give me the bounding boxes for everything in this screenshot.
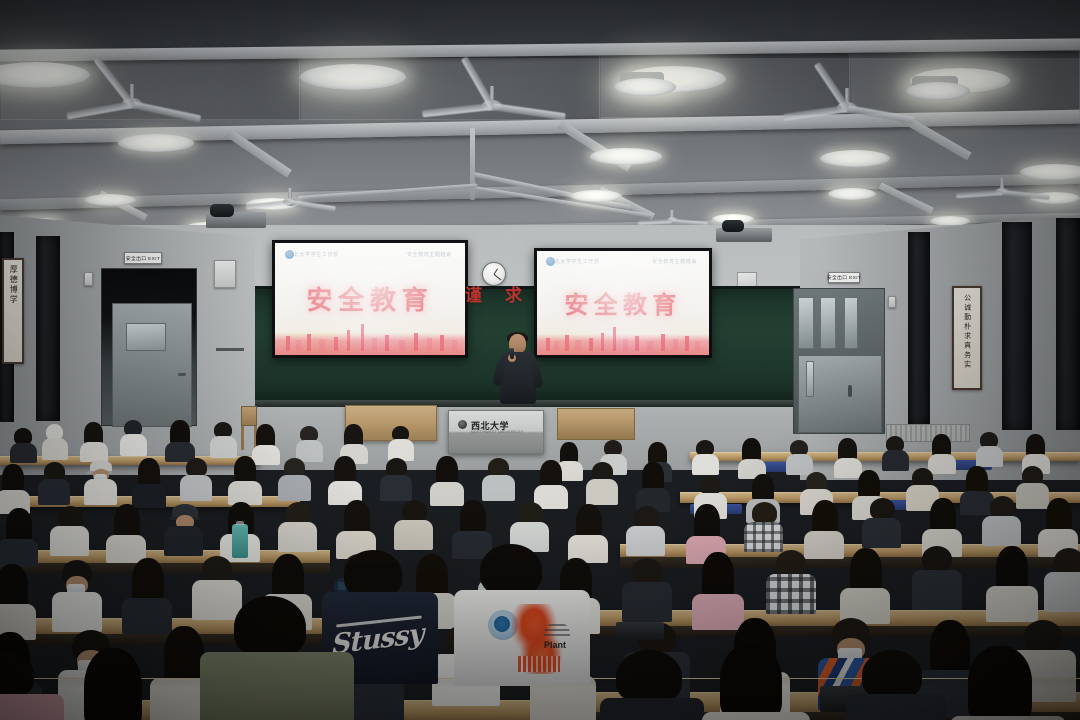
exit-sign-label: 安全出口 EXIT <box>827 274 861 281</box>
wall-character-2: 求 <box>505 281 522 306</box>
ceiling-fan-icon <box>1000 178 1003 200</box>
slide-header-right: 安全教育主题班会 <box>652 258 697 265</box>
calligraphy-scroll-right: 公诚勤朴求真务实 <box>952 286 982 390</box>
ceiling-lamp-icon <box>820 150 890 167</box>
wall-strip-left <box>216 348 244 351</box>
audience: Stussy Plant <box>0 400 1080 720</box>
ceiling-lamp-icon <box>84 194 136 206</box>
slide-header-left: 西北大学学生工作部 <box>549 258 599 265</box>
ceiling-fan-icon <box>490 86 494 116</box>
laptop[interactable] <box>616 622 664 640</box>
ceiling <box>0 0 1080 248</box>
ceiling-lamp-icon <box>300 64 406 90</box>
wall-speaker-right <box>722 220 744 232</box>
ceiling-fan-icon <box>130 84 134 114</box>
ceiling-lamp-icon <box>118 134 194 152</box>
projection-screen-right[interactable]: 西北大学学生工作部 安全教育主题班会 安全教育 <box>534 248 712 358</box>
exit-sign-right: 安全出口 EXIT <box>828 272 860 283</box>
electrical-box-left-2 <box>214 260 236 288</box>
slide-right: 西北大学学生工作部 安全教育主题班会 安全教育 <box>537 251 709 355</box>
ceiling-lamp-icon <box>828 188 876 200</box>
ceiling-fan-icon <box>845 88 849 118</box>
speaker-torso <box>500 352 536 404</box>
wall-clock-icon <box>482 262 506 286</box>
ceiling-fan-icon <box>288 188 291 210</box>
orange-burst-graphic: Plant <box>488 602 572 682</box>
slide-header-left: 西北大学学生工作部 <box>288 251 338 258</box>
microphone-icon <box>510 348 514 359</box>
slide-left: 西北大学学生工作部 安全教育主题班会 安全教育 <box>275 243 465 355</box>
slide-title: 安全教育 <box>275 280 465 317</box>
calligraphy-scroll-left: 厚德博学 <box>2 258 24 364</box>
ceiling-lamp-icon <box>614 78 676 96</box>
curtain-right-3 <box>1056 218 1080 430</box>
ceiling-lamp-icon <box>906 82 970 100</box>
projection-screen-left[interactable]: 西北大学学生工作部 安全教育主题班会 安全教育 <box>272 240 468 358</box>
water-bottle <box>232 524 248 558</box>
curtain-right-2 <box>1002 222 1032 430</box>
electrical-box-right <box>888 296 896 308</box>
lecture-hall-photo: 西北大学学生工作部 安全教育主题班会 安全教育 西北大学学生工作部 <box>0 0 1080 720</box>
scroll-text: 公诚勤朴求真务实 <box>963 294 970 370</box>
wall-speaker-left <box>210 204 234 217</box>
exit-sign-left: 安全出口 EXIT <box>124 252 162 264</box>
plaid-shirt <box>766 574 816 614</box>
plaid-shirt <box>744 522 783 552</box>
electrical-box-left <box>84 272 93 286</box>
wall-character-1: 谨 <box>465 281 482 306</box>
exit-sign-label: 安全出口 EXIT <box>126 255 160 262</box>
ceiling-lamp-icon <box>1020 164 1080 180</box>
ceiling-lamp-icon <box>590 148 662 165</box>
curtain-left-2 <box>36 236 60 421</box>
ceiling-lamp-icon <box>570 190 622 202</box>
slide-city-silhouette <box>275 333 465 355</box>
curtain-right <box>908 232 930 424</box>
scroll-text: 厚德博学 <box>9 265 17 305</box>
slide-header-right: 安全教育主题班会 <box>407 251 452 258</box>
